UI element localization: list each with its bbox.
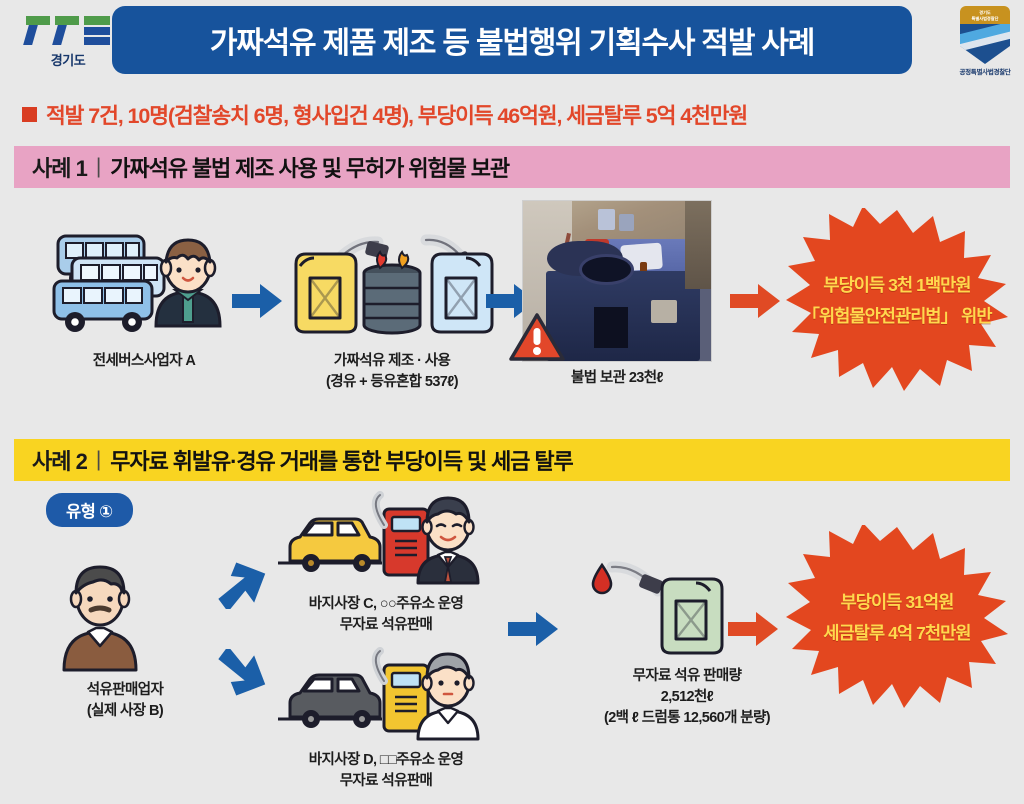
page-title-bar: 가짜석유 제품 제조 등 불법행위 기획수사 적발 사례 <box>112 6 912 74</box>
case1-arrow-3 <box>728 281 784 321</box>
case2-branch2-caption-line1: 바지사장 D, □□주유소 운영 <box>266 750 506 771</box>
case2-badge: 사례 2 <box>14 444 87 476</box>
case2-arrow-result <box>726 609 782 649</box>
page-title: 가짜석유 제품 제조 등 불법행위 기획수사 적발 사례 <box>210 18 814 62</box>
case1-step1-caption: 전세버스사업자 A <box>44 351 244 372</box>
businessman-icon <box>40 555 210 675</box>
case1-burst-text: 부당이득 3천 1백만원 「위험물안전관리법」 위반 <box>802 270 991 331</box>
special-judicial-police-emblem: 경기도 특별사법경찰단 공정특별사법경찰단 <box>952 4 1018 84</box>
gray-car-gas-station-icon <box>266 647 506 745</box>
case1-step2-caption-line2: (경유 + 등유혼합 537ℓ) <box>272 372 512 393</box>
warning-triangle-icon <box>508 312 566 364</box>
police-emblem-caption: 공정특별사법경찰단 <box>952 66 1018 76</box>
case2-separator: | <box>87 448 110 472</box>
blue-arrow-up-right-icon <box>212 559 268 609</box>
summary-text: 적발 7건, 10명(검찰송치 6명, 형사입건 4명), 부당이득 46억원,… <box>46 99 747 130</box>
case1-step-buses: 전세버스사업자 A <box>44 226 244 372</box>
case1-step-fuel: 가짜석유 제조 · 사용 (경유 + 등유혼합 537ℓ) <box>272 226 512 393</box>
gyeonggi-logo-marks <box>24 14 112 48</box>
case2-burst-line2: 세금탈루 4억 7천만원 <box>823 618 970 649</box>
case2-source-caption-line1: 석유판매업자 <box>40 680 210 701</box>
gyeonggi-logo-label: 경기도 <box>24 50 112 69</box>
case1-result-burst: 부당이득 3천 1백만원 「위험물안전관리법」 위반 <box>782 208 1012 394</box>
case2-total-caption-line3: (2백 ℓ 드럼통 12,560개 분량) <box>562 708 812 729</box>
red-arrow-right-icon <box>728 281 784 321</box>
case1-badge: 사례 1 <box>14 151 87 183</box>
case2-arrow-down <box>212 649 268 699</box>
case1-title: 가짜석유 불법 제조 사용 및 무허가 위험물 보관 <box>110 151 509 183</box>
case1-separator: | <box>87 155 110 179</box>
case2-result-burst: 부당이득 31억원 세금탈루 4억 7천만원 <box>782 525 1012 711</box>
fuel-cans-and-drum-icon <box>272 226 512 346</box>
case2-source-caption-line2: (실제 사장 B) <box>40 701 210 722</box>
case2-branch1-caption-line2: 무자료 석유판매 <box>266 615 506 636</box>
case1-burst-line1: 부당이득 3천 1백만원 <box>802 270 991 301</box>
case1-header: 사례 1 | 가짜석유 불법 제조 사용 및 무허가 위험물 보관 <box>14 146 1010 188</box>
case2-source-node: 석유판매업자 (실제 사장 B) <box>40 555 210 722</box>
case1-step2-caption-line1: 가짜석유 제조 · 사용 <box>272 351 512 372</box>
case1-step3-caption: 불법 보관 23천ℓ <box>514 368 720 389</box>
shield-line2: 특별사법경찰단 <box>972 16 999 21</box>
infographic-page: 경기도 가짜석유 제품 제조 등 불법행위 기획수사 적발 사례 경기도 특별사… <box>0 0 1024 804</box>
case2-total-caption-line2: 2,512천ℓ <box>562 687 812 708</box>
blue-arrow-down-right-icon <box>212 649 268 699</box>
case1-body: 전세버스사업자 A <box>14 188 1010 434</box>
case2-burst-text: 부당이득 31억원 세금탈루 4억 7천만원 <box>823 587 970 648</box>
case2-arrow-merge <box>506 609 562 649</box>
buses-and-operator-icon <box>44 226 244 346</box>
yellow-car-gas-station-icon <box>266 491 506 589</box>
case2-header: 사례 2 | 무자료 휘발유·경유 거래를 통한 부당이득 및 세금 탈루 <box>14 439 1010 481</box>
case2-title: 무자료 휘발유·경유 거래를 통한 부당이득 및 세금 탈루 <box>110 444 572 476</box>
case2-branch-1: 바지사장 C, ○○주유소 운영 무자료 석유판매 <box>266 491 506 636</box>
gyeonggi-do-logo: 경기도 <box>24 14 112 76</box>
shield-icon: 경기도 특별사법경찰단 <box>960 6 1010 64</box>
case1-step-photo: 불법 보관 23천ℓ <box>514 200 720 389</box>
case2-arrow-up <box>212 559 268 609</box>
page-header: 경기도 가짜석유 제품 제조 등 불법행위 기획수사 적발 사례 경기도 특별사… <box>0 0 1024 88</box>
case1-burst-line2: 「위험물안전관리법」 위반 <box>802 301 991 332</box>
square-bullet-icon <box>22 107 37 122</box>
case2-total-caption-line1: 무자료 석유 판매량 <box>562 666 812 687</box>
case2-burst-line1: 부당이득 31억원 <box>823 587 970 618</box>
red-arrow-right-icon <box>726 609 782 649</box>
summary-line: 적발 7건, 10명(검찰송치 6명, 형사입건 4명), 부당이득 46억원,… <box>22 96 1012 132</box>
case2-branch1-caption-line1: 바지사장 C, ○○주유소 운영 <box>266 594 506 615</box>
case2-body: 유형 ① 석유판매업자 (실제 사장 B) <box>14 481 1010 796</box>
blue-arrow-right-icon <box>506 609 562 649</box>
case2-branch2-caption-line2: 무자료 석유판매 <box>266 771 506 792</box>
case2-branch-2: 바지사장 D, □□주유소 운영 무자료 석유판매 <box>266 647 506 792</box>
case2-type-badge: 유형 ① <box>46 493 133 527</box>
